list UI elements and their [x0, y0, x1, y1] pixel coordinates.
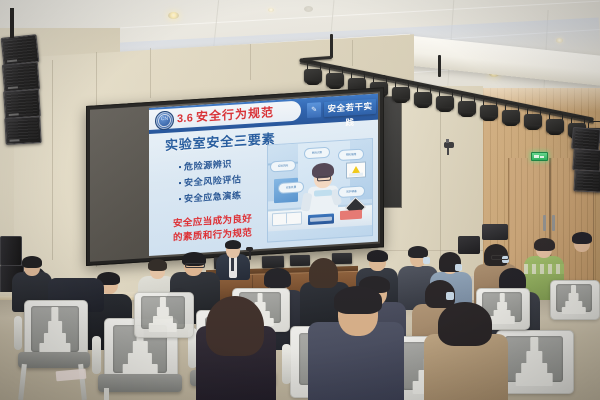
wall-seam [352, 40, 353, 66]
line-array-speaker-right [573, 169, 600, 192]
ceiling-downlight [168, 12, 179, 19]
slide-bullet-1: 危险源辨识 [179, 159, 232, 172]
laptop-center [262, 256, 284, 269]
microphone [249, 250, 251, 260]
door-handle[interactable] [552, 215, 555, 231]
floor-equipment [482, 224, 508, 240]
eiffel-chair-10[interactable] [550, 280, 598, 318]
wall-seam [440, 96, 441, 266]
glasses-icon [317, 176, 331, 182]
collar [314, 190, 332, 197]
wall-seam [52, 60, 53, 260]
eiffel-chair-7[interactable] [134, 292, 192, 336]
slide-bullet-3: 安全应急演练 [179, 190, 242, 204]
slide-bullet-2: 安全风险评估 [179, 174, 242, 188]
illustration-bubble-2: 危险识别 [304, 147, 330, 160]
slide-section-number: 3.6 [177, 112, 193, 125]
stage-monitor-speaker [0, 236, 22, 266]
floor-equipment [458, 236, 480, 254]
door-handle[interactable] [543, 215, 546, 231]
eiffel-frame-icon [488, 293, 515, 325]
bullet-dot-icon [179, 198, 181, 200]
lecture-hall-photo: CN 3.6 安全行为规范 ✎ 安全若干实践 实验室安全三要素 危险源辨识 安全… [0, 0, 600, 400]
eiffel-frame-icon [562, 285, 587, 315]
lab-safety-illustration: 实验风险 危险识别 预防措施 应急处置 防护装备 [267, 138, 373, 243]
line-array-speaker-right [572, 148, 600, 172]
microphone-head [246, 247, 253, 251]
bullet-dot-icon [179, 166, 181, 168]
wall-camera-icon [444, 142, 454, 148]
truss-drop-pipe [438, 55, 441, 77]
slide-bullet-3-text: 安全应急演练 [184, 190, 242, 204]
ceiling-vent [304, 6, 313, 12]
truss-drop-pipe [330, 34, 333, 58]
slide-note-line-1: 安全应当成为良好 [173, 214, 252, 230]
speaker-rigging [10, 8, 14, 38]
chair-armrest [14, 316, 22, 350]
slide-note-line-2: 的素质和行为规范 [173, 228, 252, 244]
illustration-bubble-1: 实验风险 [270, 160, 296, 173]
wall-seam [250, 44, 251, 80]
slide-bullet-1-text: 危险源辨识 [184, 159, 232, 172]
necktie [231, 257, 234, 271]
slide-bullet-2-text: 安全风险评估 [184, 174, 242, 188]
eiffel-frame-icon [39, 307, 71, 357]
chair-seat-2[interactable] [98, 374, 182, 392]
open-book [272, 211, 302, 226]
wall-seam [150, 48, 151, 98]
illustration-bubble-3: 预防措施 [338, 149, 364, 162]
slide-heading: 实验室安全三要素 [165, 132, 275, 153]
ceiling-downlight [556, 38, 563, 43]
illustration-bubble-5: 防护装备 [338, 185, 365, 198]
wall-camera-mount [447, 148, 449, 155]
red-book [340, 210, 362, 220]
bullet-dot-icon [179, 182, 181, 184]
line-array-speaker-left [4, 116, 41, 145]
chair-armrest [92, 336, 101, 374]
ceiling-downlight [268, 8, 274, 12]
slide-content: CN 3.6 安全行为规范 ✎ 安全若干实践 实验室安全三要素 危险源辨识 安全… [149, 94, 378, 256]
eiffel-frame-icon [148, 297, 178, 332]
bookmark-icon: ✎ [307, 102, 321, 118]
warning-triangle-icon [346, 161, 366, 178]
chair-armrest [282, 344, 291, 384]
laptop-right [290, 255, 310, 266]
glasses-icon [491, 255, 509, 260]
exit-sign [531, 152, 548, 161]
illustration-bubble-4: 应急处置 [278, 181, 304, 194]
line-array-speaker-left [2, 61, 40, 92]
laptop-far-right [332, 253, 352, 264]
glasses-icon [185, 263, 205, 268]
sweater-pattern [524, 264, 564, 274]
eiffel-frame-icon [514, 337, 554, 387]
chair-leg [104, 388, 109, 400]
line-array-speaker-left [3, 89, 41, 119]
